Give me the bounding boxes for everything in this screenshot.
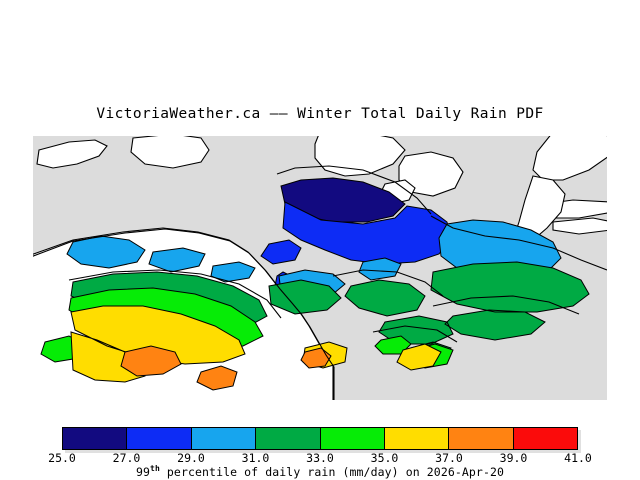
- colorbar-tick-41.0: 41.0: [553, 451, 603, 465]
- colorbar-caption: 99th percentile of daily rain (mm/day) o…: [0, 464, 640, 479]
- colorbar-legend: 25.027.029.031.033.035.037.039.041.0 99t…: [0, 418, 640, 480]
- colorbar-band-25.0-27.0: [63, 428, 127, 449]
- colorbar-tick-33.0: 33.0: [295, 451, 345, 465]
- colorbar-tick-35.0: 35.0: [360, 451, 410, 465]
- colorbar-tick-27.0: 27.0: [102, 451, 152, 465]
- colorbar-tick-31.0: 31.0: [231, 451, 281, 465]
- colorbar-tick-29.0: 29.0: [166, 451, 216, 465]
- colorbar-tick-labels: 25.027.029.031.033.035.037.039.041.0: [0, 451, 640, 465]
- colorbar-band-37.0-39.0: [449, 428, 513, 449]
- colorbar-tick-39.0: 39.0: [489, 451, 539, 465]
- colorbar-tick-25.0: 25.0: [37, 451, 87, 465]
- colorbar-band-39.0-41.0: [514, 428, 577, 449]
- colorbar-band-31.0-33.0: [256, 428, 320, 449]
- colorbar-tick-37.0: 37.0: [424, 451, 474, 465]
- map-canvas: [33, 136, 607, 400]
- colorbar-band-27.0-29.0: [127, 428, 191, 449]
- map-graphic: [33, 136, 607, 400]
- weather-map-page: VictoriaWeather.ca —— Winter Total Daily…: [0, 0, 640, 480]
- colorbar-band-33.0-35.0: [321, 428, 385, 449]
- colorbar-band-35.0-37.0: [385, 428, 449, 449]
- colorbar-band-29.0-31.0: [192, 428, 256, 449]
- page-title: VictoriaWeather.ca —— Winter Total Daily…: [0, 106, 640, 122]
- colorbar-bands: [62, 427, 578, 450]
